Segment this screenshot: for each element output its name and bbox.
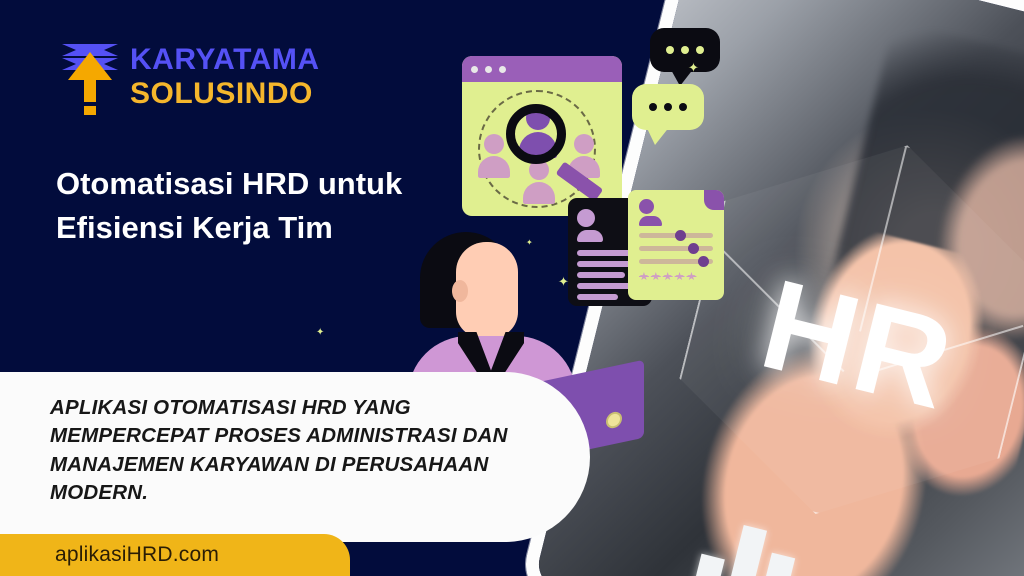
coin-icon xyxy=(606,410,622,429)
sparkle-icon xyxy=(558,274,569,290)
brand-logo[interactable]: KARYATAMA SOLUSINDO xyxy=(62,40,320,114)
banner-canvas: HR xyxy=(0,0,1024,576)
page-title: Otomatisasi HRD untuk Efisiensi Kerja Ti… xyxy=(56,162,456,250)
website-footer-bar[interactable]: aplikasiHRD.com xyxy=(0,534,350,576)
sparkle-icon xyxy=(316,327,324,338)
slider-control xyxy=(639,246,713,251)
browser-title-bar xyxy=(462,56,622,82)
user-avatar-icon xyxy=(523,160,555,204)
magnifier-over-people-icon xyxy=(506,104,566,164)
description-text: APLIKASI OTOMATISASI HRD YANG MEMPERCEPA… xyxy=(50,394,520,507)
user-avatar-icon xyxy=(577,209,595,227)
slider-control xyxy=(639,259,713,264)
description-card: APLIKASI OTOMATISASI HRD YANG MEMPERCEPA… xyxy=(0,372,590,542)
rating-stars: ★★★★★ xyxy=(639,272,715,283)
brand-name-line1: KARYATAMA xyxy=(130,45,320,75)
lime-chat-bubble xyxy=(632,84,704,130)
user-avatar-icon xyxy=(639,199,654,214)
slider-control xyxy=(639,233,713,238)
sparkle-icon xyxy=(526,238,533,247)
website-url[interactable]: aplikasiHRD.com xyxy=(55,543,219,567)
brand-wordmark: KARYATAMA SOLUSINDO xyxy=(130,45,320,109)
browser-viewport xyxy=(462,82,622,216)
browser-window-mock xyxy=(462,56,622,216)
user-avatar-body-icon xyxy=(639,216,662,226)
profile-card-lime: ★★★★★ xyxy=(628,190,724,300)
up-arrow-chevron-logo-icon xyxy=(62,40,118,114)
user-avatar-icon xyxy=(478,134,510,178)
brand-name-line2: SOLUSINDO xyxy=(130,79,320,109)
sparkle-icon xyxy=(688,60,699,76)
folded-corner xyxy=(704,190,724,210)
person-ear xyxy=(452,280,468,302)
up-arrow-mark xyxy=(68,52,112,114)
sparkle-icon xyxy=(605,182,615,196)
dark-chat-bubble xyxy=(650,28,720,72)
